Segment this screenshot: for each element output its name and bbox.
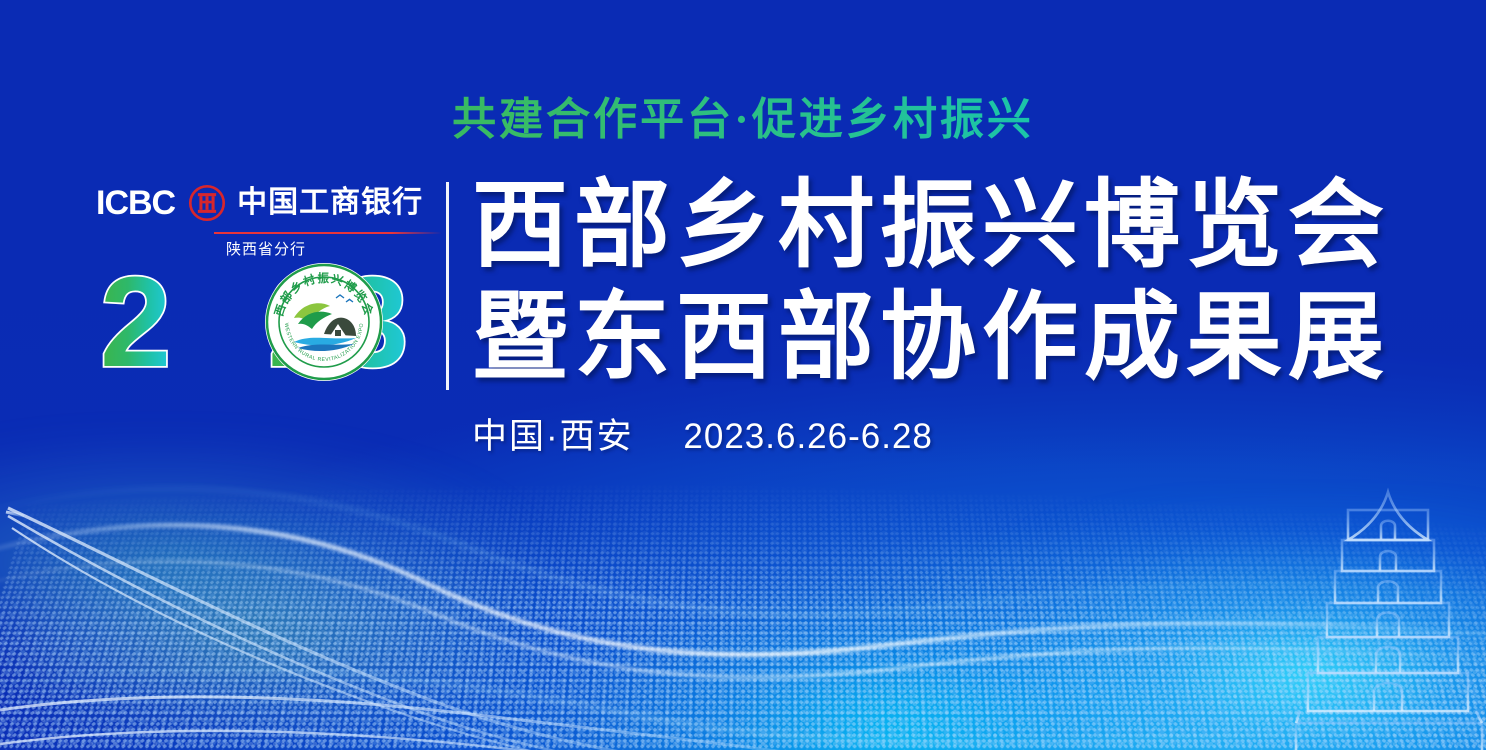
title-divider [446,182,449,390]
event-subtitle: 中国·西安 2023.6.26-6.28 [472,408,1392,459]
icbc-emblem-icon [188,184,226,222]
title-block: 西部乡村振兴博览会 暨东西部协作成果展 中国·西安 2023.6.26-6.28 [472,170,1392,459]
title-line-1: 西部乡村振兴博览会 [472,170,1392,282]
tagline: 共建合作平台·促进乡村振兴 [0,96,1486,144]
title-line-2: 暨东西部协作成果展 [472,282,1392,394]
expo-banner: 共建合作平台·促进乡村振兴 共建合作平台·促进乡村振兴 ICBC 中国工商银行 … [0,0,1486,750]
event-date: 2023.6.26-6.28 [683,417,932,456]
icbc-chinese-name: 中国工商银行 [237,188,423,218]
event-location: 中国·西安 [472,417,634,456]
icbc-logo-row: ICBC 中国工商银行 [96,180,442,226]
sponsor-logo-block: ICBC 中国工商银行 陕西省分行 [96,180,442,392]
year-logo: 2 23 西部乡村振兴博览会 WESTERN RURAL REVITALIZAT… [100,262,440,386]
svg-text:2: 2 [100,262,169,386]
icbc-wordmark: ICBC [96,186,175,220]
sponsor-divider-rule [214,232,442,234]
expo-badge-icon: 西部乡村振兴博览会 WESTERN RURAL REVITALIZATION E… [264,262,384,382]
sponsor-branch-label: 陕西省分行 [226,238,306,259]
